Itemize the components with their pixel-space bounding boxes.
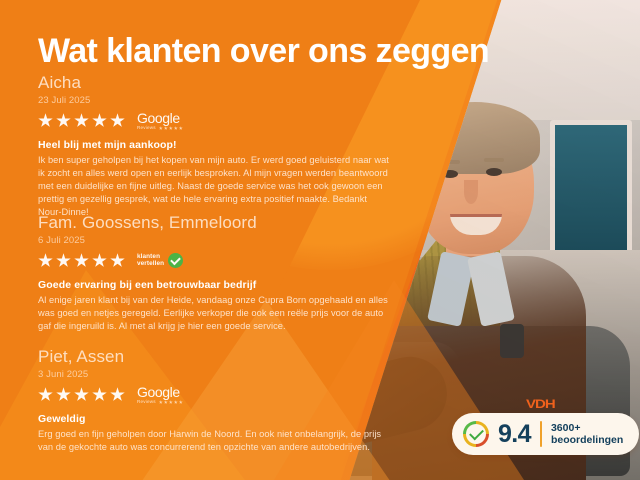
rating-badge: 9.4 3600+ beoordelingen (452, 413, 639, 455)
review-author: Fam. Goossens, Emmeloord (38, 214, 398, 233)
star-icon (110, 113, 125, 128)
star-icon (56, 113, 71, 128)
review-author: Piet, Assen (38, 348, 398, 367)
star-icon (74, 387, 89, 402)
star-icon (169, 400, 173, 404)
star-icon (110, 387, 125, 402)
banner-content: Wat klanten over ons zeggen Aicha 23 Jul… (0, 0, 640, 480)
testimonial-banner: VDH Wat klanten over ons zeggen (0, 0, 640, 480)
rating-label: beoordelingen (551, 434, 623, 446)
star-icon (92, 253, 107, 268)
google-reviews-label: Reviews (137, 126, 156, 131)
google-reviews-logo: Google Reviews (137, 111, 183, 131)
page-title: Wat klanten over ons zeggen (38, 32, 489, 71)
google-reviews-logo: Google Reviews (137, 385, 183, 405)
klantenvertellen-logo: klanten vertellen (137, 253, 183, 268)
star-icon (38, 387, 53, 402)
star-icon (164, 126, 168, 130)
star-icon (110, 253, 125, 268)
review-body: Ik ben super geholpen bij het kopen van … (38, 154, 390, 220)
google-reviews-subline: Reviews (137, 400, 183, 405)
review-meta: klanten vertellen (38, 251, 398, 271)
star-icon (179, 400, 183, 404)
google-wordmark: Google (137, 111, 183, 125)
google-mini-stars (159, 126, 183, 130)
star-rating (38, 253, 125, 268)
rating-meta: 3600+ beoordelingen (551, 422, 623, 447)
star-icon (56, 253, 71, 268)
star-icon (159, 126, 163, 130)
review-title: Heel blij met mijn aankoop! (38, 139, 398, 151)
verified-seal-icon (463, 421, 489, 447)
badge-divider (540, 421, 542, 447)
star-icon (92, 387, 107, 402)
star-icon (164, 400, 168, 404)
star-icon (38, 253, 53, 268)
review-card: Piet, Assen 3 Juni 2025 Google Reviews (38, 348, 398, 454)
klantenvertellen-line2: vertellen (137, 261, 164, 268)
star-rating (38, 113, 125, 128)
review-meta: Google Reviews (38, 111, 398, 131)
star-icon (179, 126, 183, 130)
review-date: 6 Juli 2025 (38, 235, 398, 246)
star-icon (74, 253, 89, 268)
review-body: Al enige jaren klant bij van der Heide, … (38, 294, 390, 334)
star-icon (174, 400, 178, 404)
google-mini-stars (159, 400, 183, 404)
rating-count: 3600+ (551, 422, 623, 434)
google-wordmark: Google (137, 385, 183, 399)
review-body: Erg goed en fijn geholpen door Harwin de… (38, 428, 390, 454)
review-date: 23 Juli 2025 (38, 95, 398, 106)
review-title: Goede ervaring bij een betrouwbaar bedri… (38, 279, 398, 291)
review-date: 3 Juni 2025 (38, 369, 398, 380)
review-card: Aicha 23 Juli 2025 Google Reviews (38, 74, 398, 220)
star-icon (159, 400, 163, 404)
star-icon (169, 126, 173, 130)
star-rating (38, 387, 125, 402)
rating-score: 9.4 (498, 422, 531, 447)
check-icon (469, 426, 484, 441)
verified-check-icon (168, 253, 183, 268)
star-icon (38, 113, 53, 128)
star-icon (174, 126, 178, 130)
klantenvertellen-wordmark: klanten vertellen (137, 254, 164, 267)
star-icon (92, 113, 107, 128)
star-icon (74, 113, 89, 128)
seal-center (466, 424, 486, 444)
google-reviews-subline: Reviews (137, 126, 183, 131)
review-author: Aicha (38, 74, 398, 93)
review-title: Geweldig (38, 413, 398, 425)
google-reviews-label: Reviews (137, 400, 156, 405)
star-icon (56, 387, 71, 402)
review-meta: Google Reviews (38, 385, 398, 405)
review-card: Fam. Goossens, Emmeloord 6 Juli 2025 kla… (38, 214, 398, 333)
